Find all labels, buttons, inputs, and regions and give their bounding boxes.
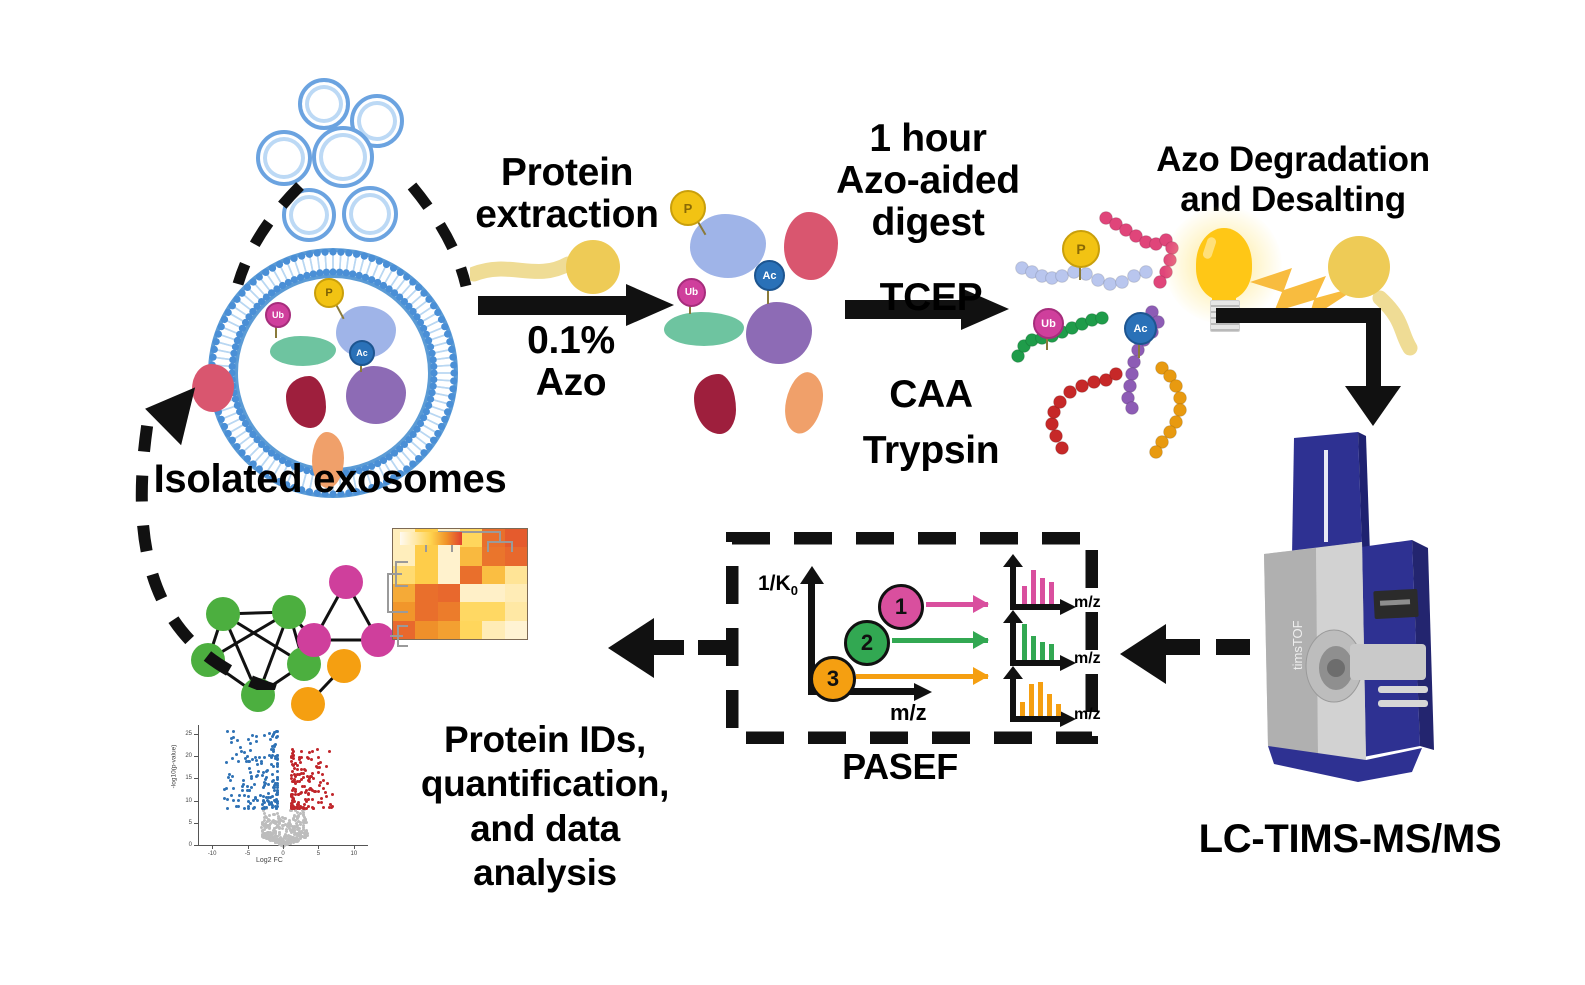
volcano-point [315, 765, 318, 768]
volcano-point [300, 772, 303, 775]
volcano-point [246, 755, 249, 758]
volcano-point [293, 773, 296, 776]
dash [652, 640, 684, 655]
heatmap-cell [460, 566, 482, 584]
volcano-point [297, 801, 300, 804]
spectrum-bar [1022, 586, 1027, 604]
bulb-glass [1196, 228, 1252, 300]
analysis-label: Protein IDs, quantification, and data an… [400, 718, 690, 896]
heatmap-cell [505, 621, 527, 639]
volcano-point [317, 790, 320, 793]
heatmap-cell [460, 602, 482, 620]
volcano-point [256, 763, 259, 766]
reagent-tcep: TCEP [856, 270, 1006, 325]
volcano-point [311, 750, 314, 753]
volcano-point [253, 783, 256, 786]
heatmap-cell [505, 584, 527, 602]
spectrum-x-label: m/z [1074, 706, 1101, 724]
volcano-point [312, 807, 315, 810]
analysis-line3: and data analysis [400, 807, 690, 896]
spectrum-bar [1020, 702, 1025, 716]
instrument-to-pasef-arrow [1120, 632, 1270, 672]
volcano-point [326, 782, 329, 785]
recycle-dashed-arrow [60, 360, 320, 690]
volcano-point [250, 777, 253, 780]
volcano-x-tick-label: -5 [241, 851, 255, 857]
volcano-point [292, 787, 295, 790]
volcano-y-tick [194, 734, 198, 735]
azo-degradation-line1: Azo Degradation [1128, 140, 1458, 180]
volcano-point [272, 733, 275, 736]
spectrum-bar [1040, 578, 1045, 604]
protein-blob-purple [746, 302, 812, 364]
volcano-point [270, 748, 273, 751]
dash [698, 640, 730, 655]
spectrum-bar [1056, 704, 1061, 716]
volcano-point [331, 805, 334, 808]
azo-head-icon [1328, 236, 1390, 298]
volcano-point [243, 794, 246, 797]
volcano-point [276, 762, 279, 765]
volcano-point [266, 837, 269, 840]
volcano-point [225, 761, 228, 764]
volcano-point [258, 756, 261, 759]
instrument-brand-text: timsTOF [1290, 620, 1305, 670]
volcano-point [331, 793, 334, 796]
heatmap-cell [505, 602, 527, 620]
pasef-y-axis-head [800, 566, 824, 584]
azo-conc-line2: Azo [486, 362, 656, 404]
volcano-point [229, 779, 232, 782]
volcano-point [230, 741, 233, 744]
volcano-point [231, 775, 234, 778]
pasef-x-axis-label: m/z [890, 700, 927, 726]
volcano-point [302, 821, 305, 824]
volcano-point [262, 799, 265, 802]
volcano-point [249, 742, 252, 745]
volcano-point [267, 783, 270, 786]
azo-concentration-label: 0.1% Azo [486, 320, 656, 404]
volcano-point [251, 734, 254, 737]
volcano-point [249, 802, 252, 805]
heatmap-cell [482, 621, 504, 639]
volcano-point [302, 824, 305, 827]
volcano-point [317, 771, 320, 774]
volcano-point [270, 756, 273, 759]
volcano-point [276, 784, 279, 787]
protein-extraction-label: Protein extraction [462, 152, 672, 236]
azo-degradation-label: Azo Degradation and Desalting [1128, 140, 1458, 220]
volcano-y-tick-label: 15 [180, 775, 192, 781]
heatmap-cell [505, 566, 527, 584]
volcano-point [247, 807, 250, 810]
volcano-point [304, 798, 307, 801]
volcano-y-tick [194, 778, 198, 779]
volcano-point [263, 734, 266, 737]
volcano-plot: -10-505100510152025 -log10(p-value) Log2… [168, 715, 373, 875]
bulb-base [1210, 300, 1240, 332]
vesicle-icon [256, 130, 312, 186]
pasef-ion-1: 1 [878, 584, 924, 630]
volcano-point [242, 779, 245, 782]
vesicle-icon [312, 126, 374, 188]
volcano-point [271, 773, 274, 776]
volcano-point [325, 795, 328, 798]
volcano-point [237, 799, 240, 802]
spectrum-x-label: m/z [1074, 594, 1101, 612]
heatmap-figure [392, 528, 562, 668]
volcano-point [301, 785, 304, 788]
volcano-point [297, 815, 300, 818]
volcano-point [296, 768, 299, 771]
azo-surfactant-molecule [470, 238, 650, 298]
ptm-acetyl-badge: Ac [349, 340, 375, 366]
volcano-point [236, 739, 239, 742]
volcano-point [249, 749, 252, 752]
digest-line3: digest [828, 202, 1028, 244]
digest-line2: Azo-aided [828, 160, 1028, 202]
volcano-point [297, 793, 300, 796]
volcano-point [231, 757, 234, 760]
volcano-point [285, 843, 288, 846]
volcano-point [255, 759, 258, 762]
ptm-phospho-badge: P [314, 278, 344, 308]
heatmap-colorbar [400, 532, 462, 545]
pasef-arrow-3 [856, 674, 988, 679]
heatmap-cell [438, 621, 460, 639]
timstof-instrument: timsTOF [1262, 430, 1482, 820]
volcano-point [275, 730, 278, 733]
azo-tail [470, 238, 650, 298]
volcano-point [288, 819, 291, 822]
volcano-point [243, 751, 246, 754]
azo-degradation-line2: and Desalting [1128, 180, 1458, 220]
pasef-arrow-2 [892, 638, 988, 643]
volcano-point [246, 789, 249, 792]
volcano-point [265, 770, 268, 773]
volcano-point [298, 780, 301, 783]
volcano-point [298, 756, 301, 759]
volcano-point [300, 831, 303, 834]
heatmap-cell [415, 584, 437, 602]
volcano-point [317, 756, 320, 759]
vesicle-icon [298, 78, 350, 130]
volcano-point [281, 838, 284, 841]
volcano-point [263, 784, 266, 787]
volcano-point [243, 807, 246, 810]
pasef-ion-2: 2 [844, 620, 890, 666]
reagent-caa: CAA [856, 367, 1006, 422]
volcano-point [300, 768, 303, 771]
volcano-x-axis-label: Log2 FC [256, 857, 283, 864]
volcano-point [276, 770, 279, 773]
dash [1166, 639, 1200, 655]
volcano-point [275, 800, 278, 803]
volcano-y-tick-label: 0 [180, 842, 192, 848]
reagent-trypsin: Trypsin [856, 423, 1006, 478]
volcano-point [237, 805, 240, 808]
volcano-point [252, 799, 255, 802]
spectrum-bar [1022, 624, 1027, 660]
spectrum-bar [1038, 682, 1043, 716]
instrument-label: LC-TIMS-MS/MS [1160, 818, 1540, 861]
pasef-y-axis-label-text: 1/K [758, 572, 791, 595]
heatmap-cell [482, 566, 504, 584]
protein-blob-darkred [694, 374, 736, 434]
volcano-point [296, 826, 299, 829]
volcano-point [232, 730, 235, 733]
volcano-point [302, 806, 305, 809]
protein-extraction-line1: Protein [462, 152, 672, 194]
volcano-point [248, 767, 251, 770]
volcano-point [300, 750, 303, 753]
heatmap-cell [460, 621, 482, 639]
volcano-point [299, 761, 302, 764]
analysis-line1: Protein IDs, [400, 718, 690, 762]
volcano-point [237, 760, 240, 763]
volcano-point [263, 756, 266, 759]
volcano-point [260, 762, 263, 765]
digest-line1: 1 hour [828, 118, 1028, 160]
volcano-point [277, 815, 280, 818]
volcano-point [310, 758, 313, 761]
pasef-spectrum-1: m/z [1004, 556, 1094, 616]
ptm-phospho-badge: P [1062, 230, 1100, 268]
volcano-point [318, 784, 321, 787]
digest-label: 1 hour Azo-aided digest [828, 118, 1028, 244]
pasef-y-axis-sub: 0 [791, 583, 798, 598]
volcano-point [311, 798, 314, 801]
volcano-point [277, 841, 280, 844]
volcano-point [328, 806, 331, 809]
pasef-label: PASEF [810, 748, 990, 787]
volcano-point [257, 770, 260, 773]
volcano-x-tick [318, 845, 319, 849]
volcano-x-tick [354, 845, 355, 849]
volcano-point [276, 824, 279, 827]
volcano-point [269, 738, 272, 741]
volcano-point [226, 807, 229, 810]
volcano-point [322, 779, 325, 782]
volcano-point [247, 738, 250, 741]
pasef-spectrum-3: m/z [1004, 668, 1094, 730]
volcano-point [232, 787, 235, 790]
ptm-ubiquitin-badge: Ub [1033, 308, 1064, 339]
azo-degraded-molecule [1328, 236, 1498, 356]
volcano-point [223, 788, 226, 791]
volcano-point [253, 806, 256, 809]
volcano-point [318, 766, 321, 769]
volcano-point [271, 804, 274, 807]
pasef-arrow-1 [926, 602, 988, 607]
heatmap-cell [438, 584, 460, 602]
volcano-point [232, 799, 235, 802]
volcano-x-tick-label: 10 [347, 851, 361, 857]
network-node [327, 649, 361, 683]
spectrum-x-label: m/z [1074, 650, 1101, 668]
heatmap-cell [460, 584, 482, 602]
volcano-point [226, 798, 229, 801]
volcano-point [276, 754, 279, 757]
heatmap-cell [482, 584, 504, 602]
volcano-point [322, 806, 325, 809]
volcano-point [316, 748, 319, 751]
volcano-point [291, 748, 294, 751]
volcano-point [263, 828, 266, 831]
volcano-point [235, 753, 238, 756]
dendrogram-left [378, 546, 410, 662]
volcano-point [246, 785, 249, 788]
volcano-x-tick-label: 5 [311, 851, 325, 857]
volcano-point [256, 799, 259, 802]
protein-blob-orange [780, 369, 828, 437]
volcano-point [303, 803, 306, 806]
spectrum-bar [1049, 644, 1054, 660]
azo-conc-line1: 0.1% [486, 320, 656, 362]
volcano-point [230, 737, 233, 740]
volcano-point [281, 827, 284, 830]
mass-spectrometer-image: timsTOF [1262, 430, 1482, 820]
volcano-point [312, 777, 315, 780]
volcano-point [271, 833, 274, 836]
pasef-to-analysis-arrow [608, 618, 728, 672]
spectrum-bar [1031, 570, 1036, 604]
volcano-point [296, 811, 299, 814]
spectrum-bar [1029, 684, 1034, 716]
network-node [329, 565, 363, 599]
volcano-point [307, 805, 310, 808]
volcano-point [238, 794, 241, 797]
volcano-point [271, 820, 274, 823]
volcano-point [261, 803, 264, 806]
spectrum-bar [1047, 694, 1052, 716]
volcano-y-tick-label: 20 [180, 753, 192, 759]
volcano-point [267, 792, 270, 795]
volcano-point [263, 824, 266, 827]
volcano-y-tick [194, 756, 198, 757]
volcano-point [282, 820, 285, 823]
volcano-point [241, 785, 244, 788]
volcano-point [256, 774, 259, 777]
protein-blob-green [664, 312, 744, 346]
pasef-ion-3: 3 [810, 656, 856, 702]
volcano-point [268, 814, 271, 817]
volcano-x-tick [248, 845, 249, 849]
protein-extraction-line2: extraction [462, 194, 672, 236]
volcano-point [328, 750, 331, 753]
volcano-point [230, 794, 233, 797]
heatmap-cell [415, 602, 437, 620]
volcano-point [325, 765, 328, 768]
volcano-point [269, 796, 272, 799]
analysis-line2: quantification, [400, 762, 690, 806]
volcano-point [255, 735, 258, 738]
volcano-point [263, 807, 266, 810]
volcano-y-tick [194, 823, 198, 824]
volcano-point [272, 765, 275, 768]
volcano-x-tick [212, 845, 213, 849]
volcano-point [320, 797, 323, 800]
volcano-point [265, 816, 268, 819]
volcano-point [247, 795, 250, 798]
volcano-y-tick-label: 10 [180, 798, 192, 804]
heatmap-cell [482, 602, 504, 620]
spectrum-bar [1040, 642, 1045, 660]
azo-head-icon [566, 240, 620, 294]
volcano-point [265, 776, 268, 779]
volcano-point [261, 774, 264, 777]
pasef-y-axis-label: 1/K0 [758, 572, 798, 598]
volcano-point [250, 786, 253, 789]
heatmap-cell [415, 566, 437, 584]
pasef-x-axis-head [914, 683, 932, 701]
volcano-y-tick-label: 25 [180, 731, 192, 737]
volcano-x-tick-label: -10 [205, 851, 219, 857]
volcano-y-tick-label: 5 [180, 820, 192, 826]
volcano-point [268, 826, 271, 829]
volcano-point [308, 780, 311, 783]
pasef-spectrum-2: m/z [1004, 612, 1094, 672]
volcano-point [321, 773, 324, 776]
volcano-point [296, 764, 299, 767]
volcano-point [226, 730, 229, 733]
volcano-y-axis [198, 725, 199, 845]
volcano-point [249, 771, 252, 774]
volcano-point [259, 794, 262, 797]
volcano-y-axis-label: -log10(p-value) [170, 745, 177, 789]
volcano-y-tick [194, 845, 198, 846]
dash [1216, 639, 1250, 655]
heatmap-cell [415, 621, 437, 639]
ptm-acetyl-badge: Ac [1124, 312, 1157, 345]
volcano-point [241, 789, 244, 792]
volcano-point [313, 790, 316, 793]
volcano-point [322, 787, 325, 790]
ptm-ubiquitin-badge: Ub [265, 302, 291, 328]
volcano-point [306, 756, 309, 759]
spectrum-bar [1049, 582, 1054, 604]
volcano-point [302, 814, 305, 817]
volcano-point [299, 836, 302, 839]
heatmap-cell [438, 566, 460, 584]
ptm-acetyl-badge: Ac [754, 260, 785, 291]
volcano-point [311, 772, 314, 775]
volcano-point [275, 807, 278, 810]
volcano-point [261, 835, 264, 838]
volcano-point [320, 801, 323, 804]
volcano-point [317, 762, 320, 765]
volcano-x-tick [283, 845, 284, 849]
heatmap-cell [438, 602, 460, 620]
workflow-figure: Ub P Ac Isolated exosomes Protein extrac… [0, 0, 1585, 985]
digest-reagents-label: TCEP CAA Trypsin [856, 270, 1006, 478]
spectrum-bar [1031, 636, 1036, 660]
pasef-panel: 1/K0 m/z 1 2 3 m/z m/z [726, 532, 1098, 744]
volcano-point [276, 776, 279, 779]
volcano-point [255, 740, 258, 743]
ptm-ubiquitin-badge: Ub [677, 278, 706, 307]
volcano-point [251, 758, 254, 761]
volcano-y-tick [194, 801, 198, 802]
volcano-point [268, 732, 271, 735]
volcano-point [324, 791, 327, 794]
volcano-point [302, 776, 305, 779]
volcano-point [245, 760, 248, 763]
volcano-point [239, 746, 242, 749]
volcano-point [303, 768, 306, 771]
ptm-phospho-badge: P [670, 190, 706, 226]
volcano-point [276, 735, 279, 738]
